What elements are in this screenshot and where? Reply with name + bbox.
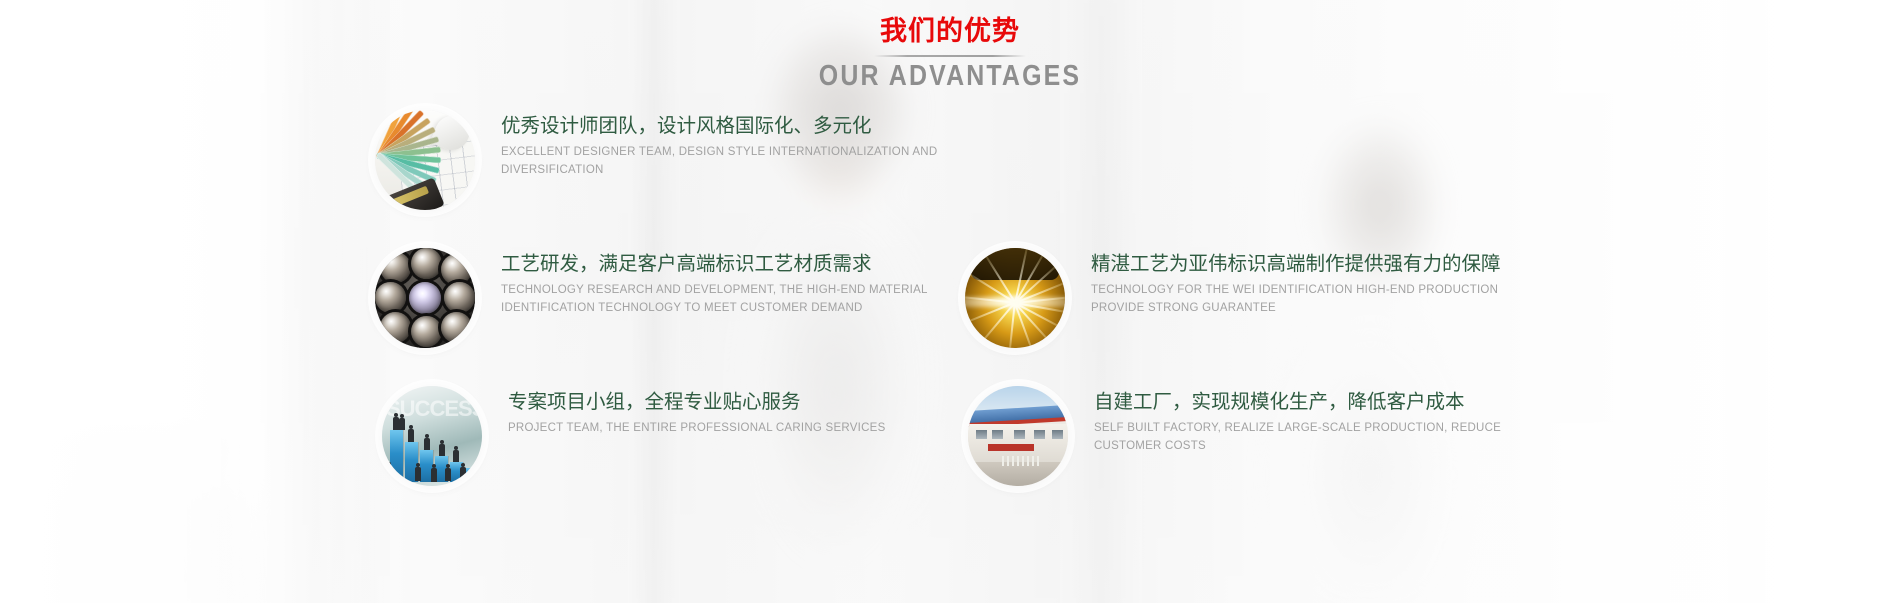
factory-building-icon: [968, 386, 1068, 486]
feature-heading-cn: 专案项目小组，全程专业贴心服务: [508, 390, 886, 414]
feature-heading-en: SELF BUILT FACTORY, REALIZE LARGE-SCALE …: [1094, 420, 1534, 455]
feature-item-craftsmanship-guarantee[interactable]: 精湛工艺为亚伟标识高端制作提供强有力的保障 TECHNOLOGY FOR THE…: [965, 248, 1531, 348]
feature-heading-en: EXCELLENT DESIGNER TEAM, DESIGN STYLE IN…: [501, 144, 941, 179]
section-title-en: OUR ADVANTAGES: [133, 62, 1767, 91]
feature-heading-en: TECHNOLOGY FOR THE WEI IDENTIFICATION HI…: [1091, 282, 1531, 317]
advantages-section: 我们的优势 OUR ADVANTAGES: [0, 0, 1900, 603]
feature-item-technology-rnd[interactable]: 工艺研发，满足客户高端标识工艺材质需求 TECHNOLOGY RESEARCH …: [375, 248, 941, 348]
feature-heading-cn: 精湛工艺为亚伟标识高端制作提供强有力的保障: [1091, 252, 1531, 276]
business-growth-chart-icon: SUCCESS: [382, 386, 482, 486]
feature-heading-en: PROJECT TEAM, THE ENTIRE PROFESSIONAL CA…: [508, 420, 886, 437]
feature-heading-cn: 优秀设计师团队，设计风格国际化、多元化: [501, 114, 941, 138]
welding-sparks-icon: [965, 248, 1065, 348]
feature-heading-cn: 工艺研发，满足客户高端标识工艺材质需求: [501, 252, 941, 276]
feature-item-designer-team[interactable]: 优秀设计师团队，设计风格国际化、多元化 EXCELLENT DESIGNER T…: [375, 110, 941, 210]
section-title-cn: 我们的优势: [0, 18, 1900, 45]
section-header: 我们的优势 OUR ADVANTAGES: [0, 18, 1900, 91]
feature-heading-cn: 自建工厂，实现规模化生产，降低客户成本: [1094, 390, 1534, 414]
metal-tube-cluster-icon: [375, 248, 475, 348]
title-divider: [874, 55, 1026, 57]
feature-item-project-team[interactable]: SUCCESS: [382, 386, 886, 486]
color-swatch-fan-blueprint-icon: [375, 110, 475, 210]
feature-item-self-built-factory[interactable]: 自建工厂，实现规模化生产，降低客户成本 SELF BUILT FACTORY, …: [968, 386, 1534, 486]
feature-heading-en: TECHNOLOGY RESEARCH AND DEVELOPMENT, THE…: [501, 282, 941, 317]
